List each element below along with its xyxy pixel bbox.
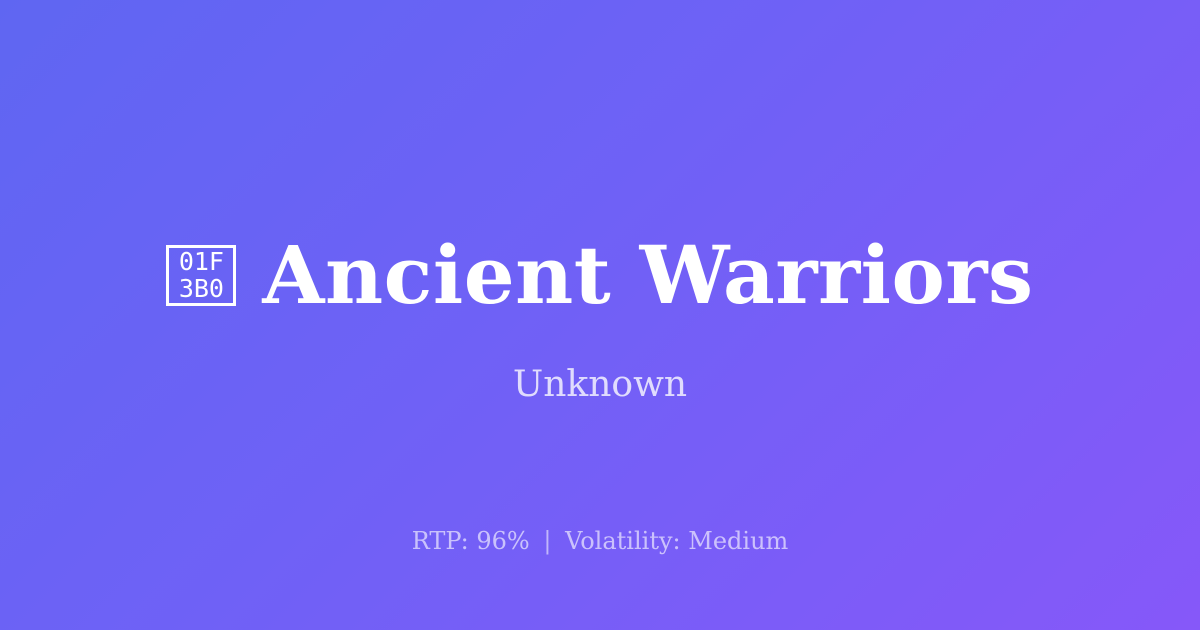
volatility-value: Volatility: Medium	[565, 527, 788, 555]
title-row: 01F 3B0 Ancient Warriors	[0, 229, 1200, 321]
slot-machine-emoji-tofu-icon: 01F 3B0	[166, 245, 236, 306]
tofu-codepoint-top: 01F	[179, 248, 224, 275]
stats-separator: |	[537, 527, 557, 555]
game-preview-card: 01F 3B0 Ancient Warriors Unknown RTP: 96…	[0, 0, 1200, 630]
game-stats-footer: RTP: 96% | Volatility: Medium	[0, 524, 1200, 558]
page-title: Ancient Warriors	[262, 229, 1033, 321]
game-provider-subtitle: Unknown	[0, 361, 1200, 409]
tofu-codepoint-bottom: 3B0	[179, 275, 224, 302]
rtp-value: RTP: 96%	[412, 527, 530, 555]
